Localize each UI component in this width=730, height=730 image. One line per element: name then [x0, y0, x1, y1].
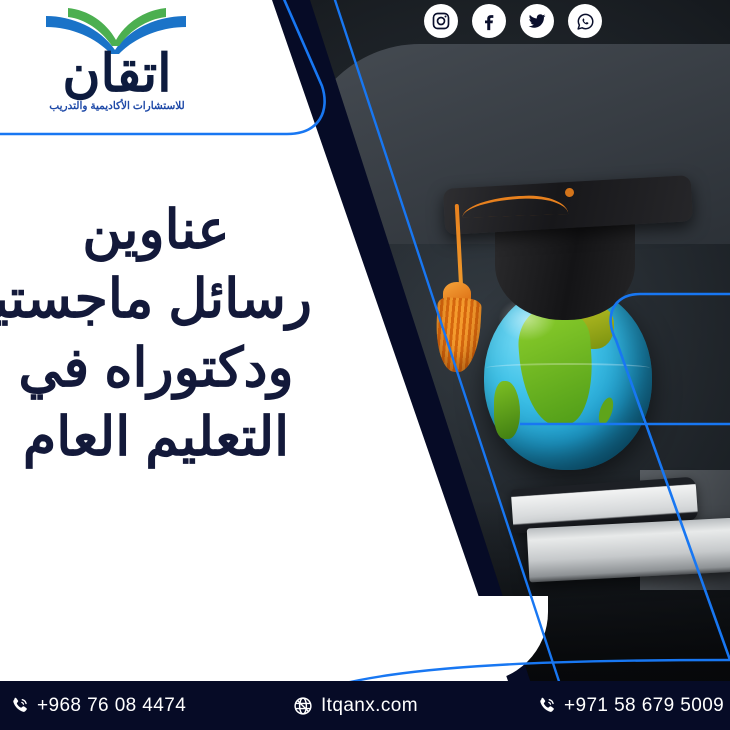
contact-website[interactable]: Itqanx.com: [292, 695, 418, 717]
social-links: [424, 4, 602, 38]
instagram-icon[interactable]: [424, 4, 458, 38]
logo-tagline: للاستشارات الأكاديمية والتدريب: [49, 100, 184, 112]
facebook-icon[interactable]: [472, 4, 506, 38]
contact-phone-left[interactable]: +968 76 08 4474: [8, 695, 186, 717]
headline-line-3: ودكتوراه في: [0, 334, 312, 403]
tassel-icon: [434, 297, 482, 373]
phone-left-text: +968 76 08 4474: [37, 695, 186, 717]
poster-canvas: اتقان للاستشارات الأكاديمية والتدريب: [0, 0, 730, 730]
continent-south-america: [494, 381, 520, 439]
whatsapp-icon[interactable]: [568, 4, 602, 38]
website-text: Itqanx.com: [321, 695, 418, 717]
headline-line-2: رسائل ماجستير: [0, 265, 312, 334]
globe-web-icon: [292, 695, 314, 717]
continent-madagascar: [596, 396, 616, 426]
headline-line-1: عناوين: [0, 196, 312, 265]
brand-logo[interactable]: اتقان للاستشارات الأكاديمية والتدريب: [12, 6, 222, 118]
headline-line-4: التعليم العام: [0, 403, 312, 472]
phone-right-text: +971 58 679 5009: [564, 695, 724, 717]
globe-seam: [486, 363, 650, 373]
phone-call-icon: [8, 695, 30, 717]
phone-call-icon: [535, 695, 557, 717]
headline: عناوين رسائل ماجستير ودكتوراه في التعليم…: [0, 196, 312, 472]
contact-phone-right[interactable]: +971 58 679 5009: [535, 695, 724, 717]
twitter-icon[interactable]: [520, 4, 554, 38]
logo-wordmark: اتقان: [62, 50, 171, 99]
contact-bar: +968 76 08 4474 Itqanx.com +971 58 679 5…: [0, 681, 730, 730]
book-lower: [527, 518, 730, 583]
